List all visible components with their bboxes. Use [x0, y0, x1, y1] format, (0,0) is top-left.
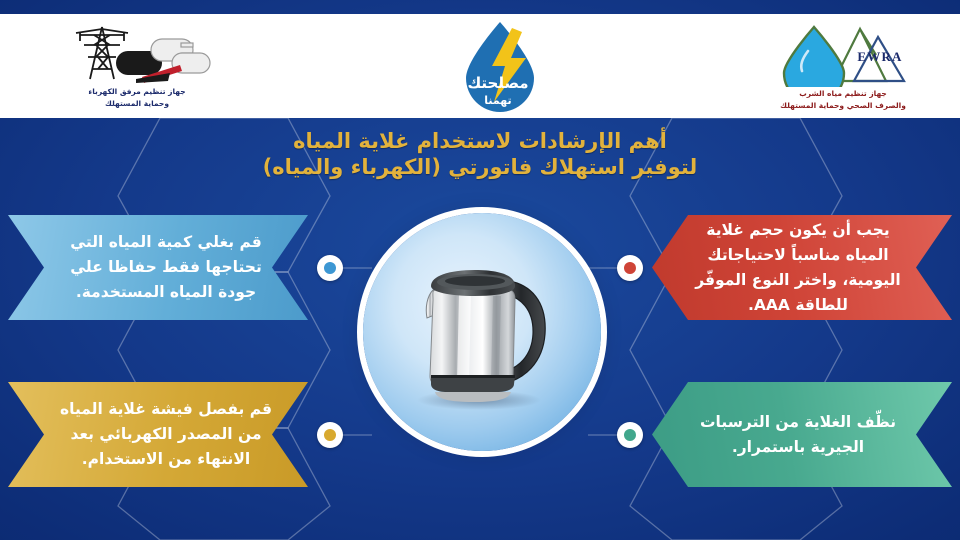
infographic-canvas: EWRA جهاز تنظيم مياه الشرب والصرف الصحي … — [0, 0, 960, 540]
logo-caption-line-1: جهاز تنظيم مياه الشرب — [799, 89, 887, 99]
main-title: أهم الإرشادات لاستخدام غلاية المياه لتوف… — [0, 128, 960, 181]
logo-water-regulator: EWRA جهاز تنظيم مياه الشرب والصرف الصحي … — [748, 21, 938, 111]
node-dot — [624, 429, 636, 441]
tip-banner-top-left: قم بغلي كمية المياه التي تحتاجها فقط حفا… — [8, 215, 308, 320]
tip-text: قم بفصل فيشة غلاية المياه من المصدر الكه… — [42, 397, 290, 472]
header-logo-band: EWRA جهاز تنظيم مياه الشرب والصرف الصحي … — [0, 14, 960, 118]
node-dot — [324, 262, 336, 274]
node-dot — [324, 429, 336, 441]
logo-caption-line-2: والصرف الصحي وحماية المستهلك — [780, 101, 906, 111]
logo-electricity-regulator: جهاز تنظيم مرفق الكهرباء وحماية المستهلك — [22, 23, 252, 109]
title-line-2: لتوفير استهلاك فاتورتي (الكهرباء والمياه… — [0, 154, 960, 181]
connector-node-top-left — [317, 255, 343, 281]
connector-node-bottom-right — [617, 422, 643, 448]
water-drop-mountain-icon: EWRA — [768, 21, 918, 87]
campaign-word-1: مصلحتك — [467, 74, 528, 92]
tip-text: يجب أن يكون حجم غلاية المياه مناسباً لاح… — [674, 218, 922, 318]
kettle-holder — [363, 213, 601, 451]
tip-banner-top-right: يجب أن يكون حجم غلاية المياه مناسباً لاح… — [652, 215, 952, 320]
connector-node-bottom-left — [317, 422, 343, 448]
center-illustration-circle — [363, 213, 601, 451]
electric-kettle-image — [397, 252, 567, 412]
logo-caption-line-2: وحماية المستهلك — [105, 99, 169, 109]
drop-lightning-icon: مصلحتك تهمنا — [452, 18, 548, 114]
tip-text: نظّف الغلاية من الترسبات الجيرية باستمرا… — [674, 410, 922, 460]
connector-node-top-right — [617, 255, 643, 281]
tip-banner-bottom-right: نظّف الغلاية من الترسبات الجيرية باستمرا… — [652, 382, 952, 487]
logo-caption-line-1: جهاز تنظيم مرفق الكهرباء — [88, 87, 185, 97]
node-dot — [624, 262, 636, 274]
logo-campaign: مصلحتك تهمنا — [425, 18, 575, 114]
tip-text: قم بغلي كمية المياه التي تحتاجها فقط حفا… — [42, 230, 290, 305]
campaign-word-2: تهمنا — [484, 94, 511, 107]
svg-text:EWRA: EWRA — [857, 49, 902, 64]
pylon-plug-icon — [50, 23, 225, 85]
tip-banner-bottom-left: قم بفصل فيشة غلاية المياه من المصدر الكه… — [8, 382, 308, 487]
title-line-1: أهم الإرشادات لاستخدام غلاية المياه — [0, 128, 960, 154]
